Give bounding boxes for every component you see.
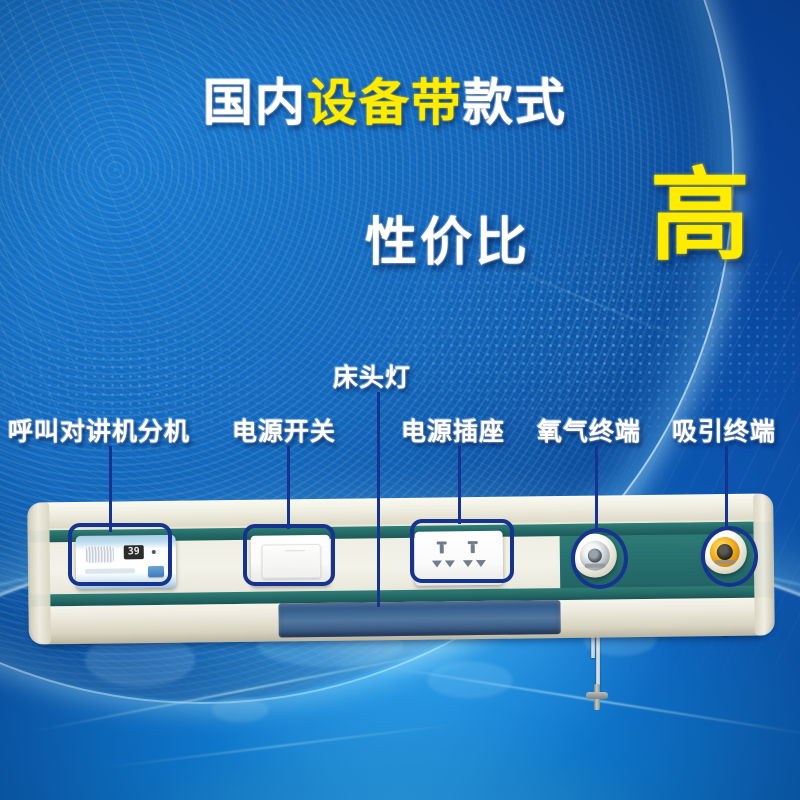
headline-part-3: 款式 bbox=[463, 78, 567, 128]
callout-label-intercom: 呼叫对讲机分机 bbox=[8, 412, 190, 448]
leader-line-bed-lamp bbox=[377, 392, 380, 607]
leader-line-power-socket bbox=[458, 446, 461, 524]
unit-end-cap-left bbox=[27, 502, 51, 644]
promo-banner: 国内设备带款式 性价比 高 呼叫对讲机分机 床头灯 电源开关 电源插座 氧气终端… bbox=[0, 0, 800, 800]
leader-line-suction-terminal bbox=[725, 446, 728, 529]
headline-line-1: 国内设备带款式 bbox=[0, 78, 800, 128]
headline-block: 国内设备带款式 性价比 高 bbox=[0, 78, 800, 233]
headline-part-1: 国内 bbox=[203, 78, 307, 128]
leader-line-power-switch bbox=[287, 446, 290, 529]
headline-emphasis: 高 bbox=[650, 166, 750, 266]
leader-line-oxygen-terminal bbox=[595, 446, 598, 530]
highlight-box-power-socket bbox=[410, 519, 514, 583]
headline-part-2: 设备带 bbox=[307, 78, 463, 128]
callout-label-suction-terminal: 吸引终端 bbox=[672, 412, 776, 448]
callout-label-oxygen-terminal: 氧气终端 bbox=[537, 412, 641, 448]
highlight-box-intercom bbox=[68, 523, 172, 586]
headline-line-2: 性价比 bbox=[365, 200, 530, 275]
callout-label-power-socket: 电源插座 bbox=[401, 412, 505, 448]
headline-line-2-wrap: 性价比 高 bbox=[0, 128, 800, 233]
hose-connector-icon bbox=[586, 684, 608, 710]
highlight-box-power-switch bbox=[243, 524, 335, 586]
leader-line-intercom bbox=[109, 446, 112, 532]
callout-label-bed-lamp: 床头灯 bbox=[333, 358, 411, 394]
highlight-ring-oxygen-terminal bbox=[571, 528, 628, 589]
bed-lamp[interactable] bbox=[278, 600, 560, 637]
highlight-ring-suction-terminal bbox=[701, 526, 758, 587]
callout-label-power-switch: 电源开关 bbox=[232, 412, 336, 448]
